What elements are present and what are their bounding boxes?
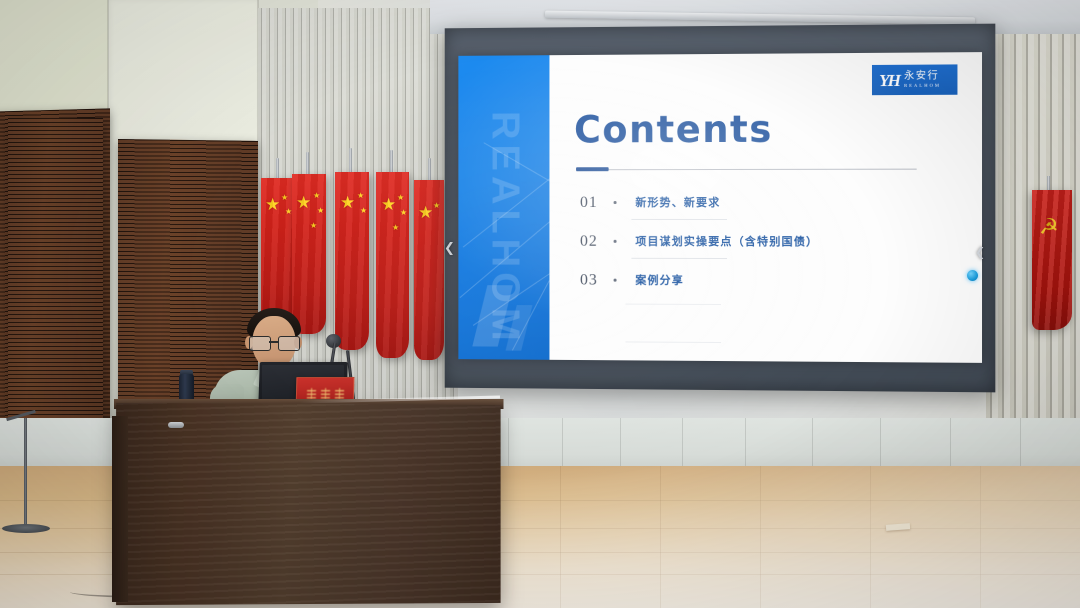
wainscot-seam xyxy=(682,418,683,470)
presenter-glasses xyxy=(248,336,300,349)
screen-right-marker-icon: ❮ xyxy=(975,245,985,259)
nameplate-character xyxy=(320,388,329,399)
national-flag: ★ ★ xyxy=(414,180,444,360)
podium xyxy=(116,403,501,605)
screen-left-marker-icon: ❮ xyxy=(444,240,455,256)
flag-star-icon: ★ xyxy=(296,194,311,211)
screen-indicator-light xyxy=(967,270,978,281)
flag-star-icon: ★ xyxy=(392,224,399,232)
toc-separator-dot xyxy=(614,240,616,242)
toc-underline xyxy=(631,219,727,220)
mic-stand-pole xyxy=(24,418,27,528)
flag-star-icon: ★ xyxy=(281,194,288,202)
mic-stand-base xyxy=(2,524,50,533)
toc-item: 01 新形势、新要求 xyxy=(580,192,941,231)
glasses-bridge xyxy=(269,341,278,343)
toc-label: 项目谋划实操要点（含特别国债） xyxy=(635,233,818,249)
flag-star-icon: ★ xyxy=(313,192,320,200)
toc-number: 03 xyxy=(580,272,598,290)
toc-label: 新形势、新要求 xyxy=(635,194,720,210)
national-flag: ★ ★ ★ ★ xyxy=(376,172,409,358)
toc-label: 案例分享 xyxy=(635,272,684,288)
toc-underline xyxy=(631,258,727,259)
presentation-slide: REALHOM YH 永安行 REALHOM Contents 01 新形势、新 xyxy=(458,52,982,363)
flag-star-icon: ★ xyxy=(340,194,355,211)
flag-star-icon: ★ xyxy=(317,207,324,215)
toc-separator-dot xyxy=(614,201,616,203)
slide-title: Contents xyxy=(574,108,773,152)
toc-number: 01 xyxy=(580,194,598,212)
slide-body: Contents 01 新形势、新要求 02 项目谋划实操要点（含特别国债） xyxy=(574,52,982,363)
floor-seam xyxy=(980,466,981,608)
podium-badge xyxy=(168,422,184,428)
nameplate-character xyxy=(334,388,343,399)
floor-seam xyxy=(760,466,761,608)
flag-star-icon: ★ xyxy=(433,202,440,210)
flag-star-icon: ★ xyxy=(381,196,396,213)
toc-separator-dot xyxy=(614,279,616,281)
hammer-sickle-icon: ☭ xyxy=(1039,216,1061,242)
wainscot-seam xyxy=(745,418,746,470)
nameplate-character xyxy=(306,388,315,399)
wainscot-seam xyxy=(508,418,509,470)
flag-star-icon: ★ xyxy=(265,196,280,213)
floor-seam xyxy=(560,466,561,608)
national-flag: ★ ★ ★ xyxy=(335,172,369,350)
glasses-lens xyxy=(278,336,300,351)
party-flag: ☭ xyxy=(1032,190,1072,330)
table-of-contents: 01 新形势、新要求 02 项目谋划实操要点（含特别国债） 03 xyxy=(580,192,941,310)
wainscot-seam xyxy=(950,418,951,470)
slide-accent-band: REALHOM xyxy=(458,55,549,360)
flag-star-icon: ★ xyxy=(357,192,364,200)
flag-star-icon: ★ xyxy=(397,194,404,202)
title-divider-rule xyxy=(576,169,917,171)
toc-number: 02 xyxy=(580,233,598,251)
wood-slat-panel xyxy=(8,118,103,428)
flag-star-icon: ★ xyxy=(418,204,433,221)
wainscot-seam xyxy=(562,418,563,470)
podium-side-face xyxy=(112,416,128,602)
toc-item: 02 项目谋划实操要点（含特别国债） xyxy=(580,231,941,271)
floor-seam xyxy=(870,466,871,608)
flag-star-icon: ★ xyxy=(360,207,367,215)
toc-ghost-rule xyxy=(625,341,721,343)
wainscot-seam xyxy=(812,418,813,470)
conference-hall-photo: ★ ★ ★ ★ ★ ★ ★ ★ ★ ★ ★ ★ ★ ★ ★ ★ xyxy=(0,0,1080,608)
floor-seam xyxy=(660,466,661,608)
flag-star-icon: ★ xyxy=(310,222,317,230)
projection-screen-frame: REALHOM YH 永安行 REALHOM Contents 01 新形势、新 xyxy=(445,24,996,393)
glasses-lens xyxy=(249,336,271,351)
wainscot-seam xyxy=(620,418,621,470)
band-watermark-text: REALHOM xyxy=(458,111,526,346)
flag-star-icon: ★ xyxy=(400,209,407,217)
wainscot-seam xyxy=(880,418,881,470)
title-divider-accent xyxy=(576,167,609,171)
wainscot-seam xyxy=(1020,418,1021,470)
